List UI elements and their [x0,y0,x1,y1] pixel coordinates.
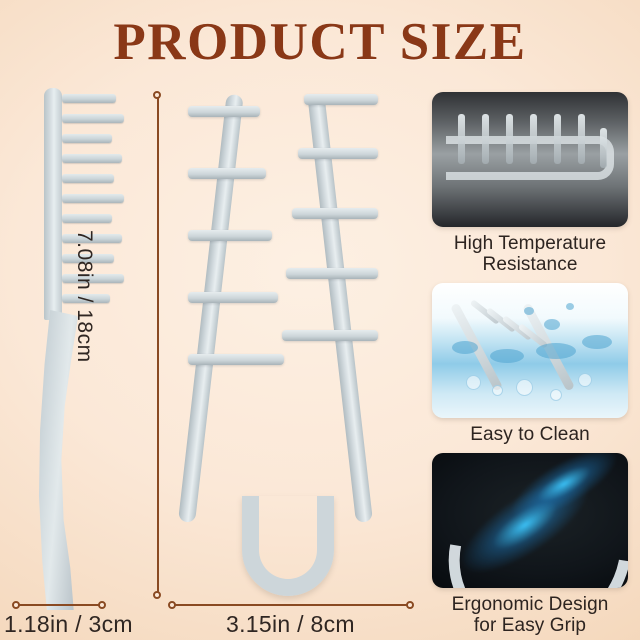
feature-caption: Ergonomic Design for Easy Grip [432,594,628,636]
heat-comb-tooth [458,114,465,164]
feature-caption: Easy to Clean [432,424,628,445]
tool-prong [188,292,278,303]
infographic-canvas: PRODUCT SIZE 7.08in / 18cm [0,0,640,640]
tool-prong [286,268,378,279]
tool-prong [282,330,378,341]
feature-caption-line: for Easy Grip [432,615,628,636]
tool-prong [304,94,378,105]
heat-comb-tooth [578,114,585,164]
water-droplet [582,335,612,349]
water-bubble [492,385,503,396]
tool-prong [298,148,378,159]
water-droplet [490,349,524,363]
feature-caption-line: High Temperature [432,233,628,254]
water-bubble [578,373,592,387]
steam-comb-photo-icon [432,92,628,227]
tool-prong [188,106,260,117]
water-droplet [544,319,560,330]
comb-spine [44,88,62,320]
comb-tooth [62,214,112,223]
dimension-endpoint-dot [153,91,161,99]
heat-comb-tooth [600,128,607,168]
comb-tooth [62,174,114,183]
feature-caption: High Temperature Resistance [432,233,628,275]
water-droplet [566,303,574,310]
tool-prong [188,168,266,179]
water-splash-photo-icon [432,283,628,418]
dimension-endpoint-dot [168,601,176,609]
dimension-endpoint-dot [98,601,106,609]
dimension-label-height: 7.08in / 18cm [72,230,96,363]
dimension-endpoint-dot [406,601,414,609]
heat-comb-tooth [554,114,561,164]
tool-prong [292,208,378,219]
dimension-label-handle-width: 1.18in / 3cm [4,611,133,638]
glowing-handle-photo-icon [432,453,628,588]
product-v-fork-tool [168,92,398,602]
tool-u-bend [242,496,334,596]
heat-comb-tooth [530,114,537,164]
feature-panel-list: High Temperature Resistance [432,92,628,640]
water-bubble [466,375,481,390]
dimension-line-height [157,95,159,595]
water-bubble [550,389,562,401]
dimension-endpoint-dot [153,591,161,599]
tool-left-arm [178,94,244,523]
tool-prong [188,230,272,241]
tool-prong [188,354,284,365]
comb-tooth [62,154,122,163]
feature-caption-line: Ergonomic Design [432,594,628,615]
feature-ergonomic-design: Ergonomic Design for Easy Grip [432,453,628,636]
water-droplet [524,307,534,315]
feature-caption-line: Resistance [432,254,628,275]
page-title: PRODUCT SIZE [0,12,640,72]
water-droplet [452,341,478,354]
feature-high-temperature: High Temperature Resistance [432,92,628,275]
comb-tooth [62,194,124,203]
dimension-line-head-width [172,604,410,606]
heat-comb-tooth [506,114,513,164]
dimension-endpoint-dot [12,601,20,609]
heat-comb-tooth [482,114,489,164]
comb-tooth [62,94,116,103]
water-droplet [536,343,576,359]
feature-caption-line: Easy to Clean [432,424,628,445]
water-bubble [516,379,533,396]
comb-tooth [62,114,124,123]
dimension-line-handle-width [16,604,102,606]
comb-tooth [62,134,112,143]
dimension-label-head-width: 3.15in / 8cm [226,611,355,638]
feature-easy-to-clean: Easy to Clean [432,283,628,445]
